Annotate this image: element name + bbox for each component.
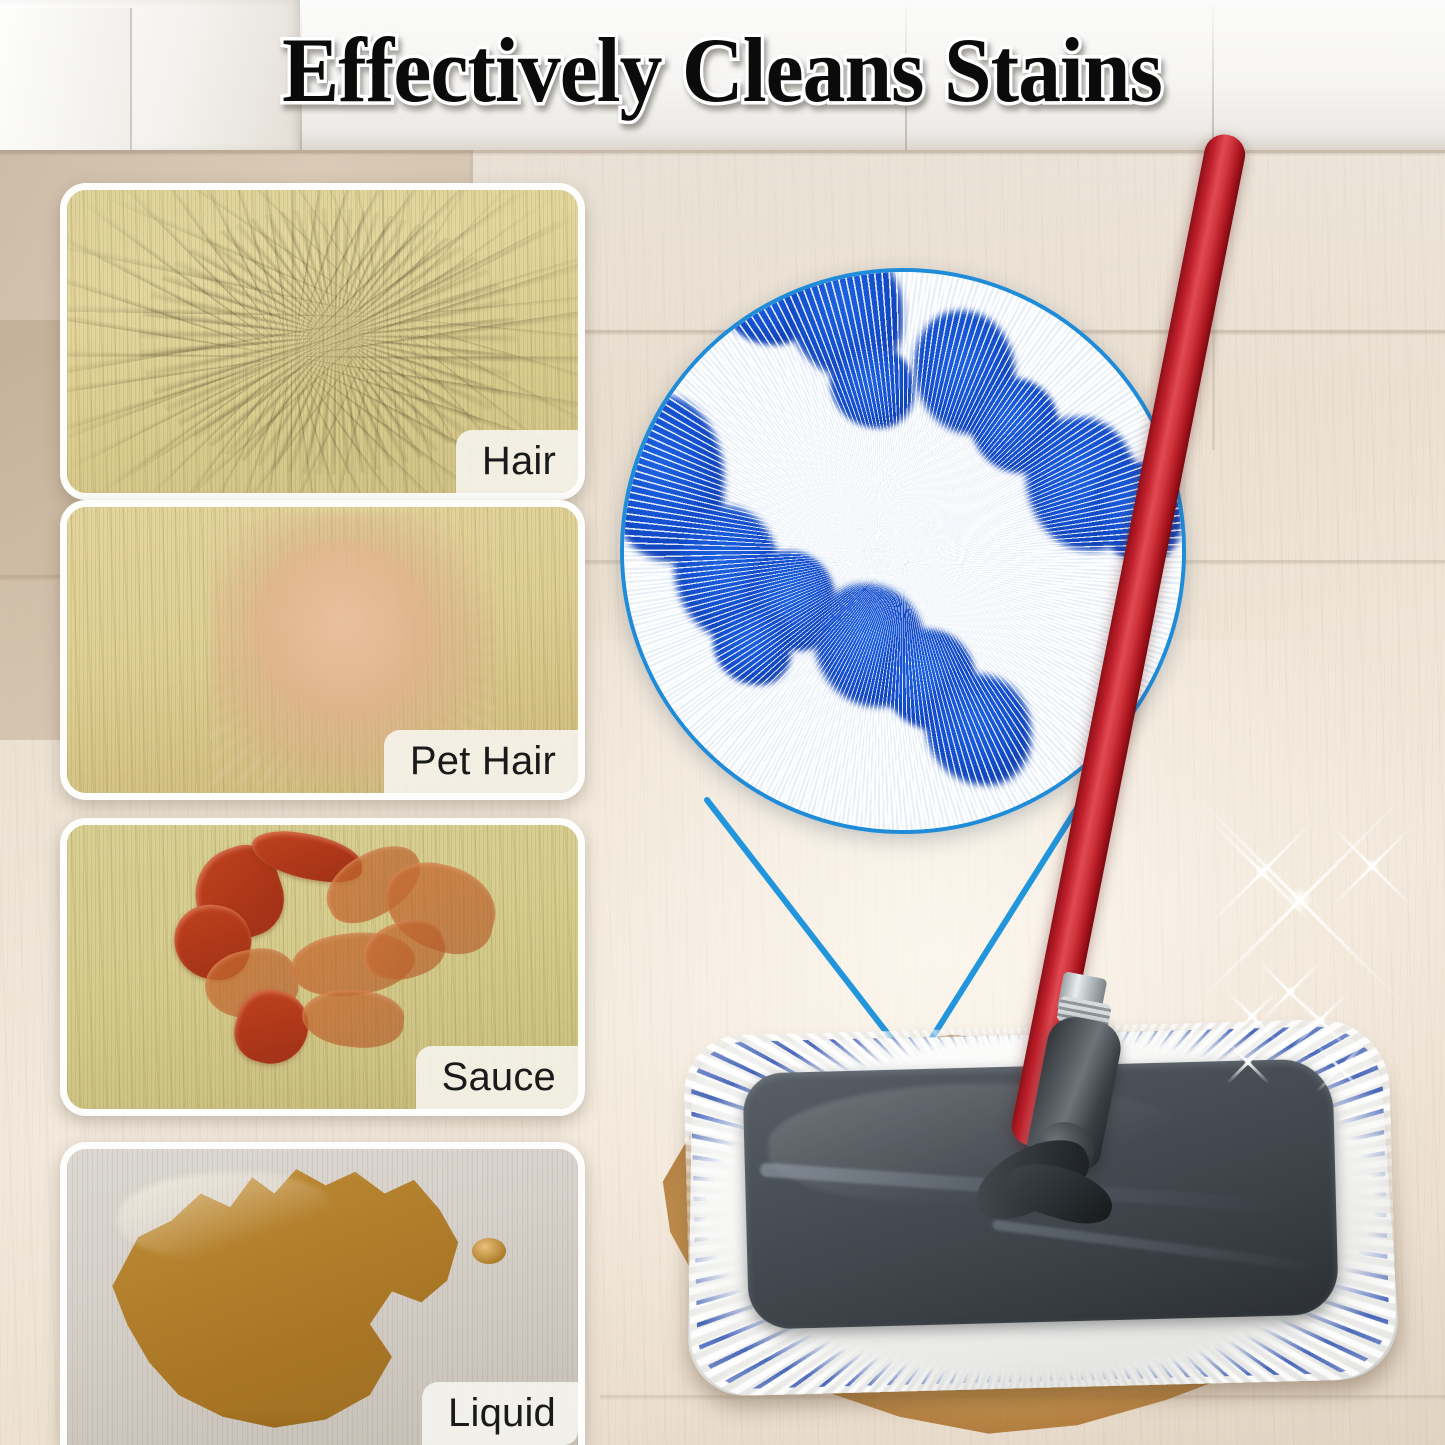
- page-title: Effectively Cleans Stains: [283, 24, 1163, 118]
- card-label-pet-hair: Pet Hair: [384, 730, 578, 793]
- card-label-sauce: Sauce: [416, 1046, 578, 1109]
- headline-banner: Effectively Cleans Stains: [0, 24, 1445, 118]
- stain-card-liquid[interactable]: Liquid: [60, 1142, 585, 1445]
- card-label-liquid: Liquid: [422, 1382, 578, 1445]
- liquid-droplet: [472, 1238, 506, 1264]
- stain-card-pet-hair[interactable]: Pet Hair: [60, 500, 585, 800]
- stain-card-sauce[interactable]: Sauce: [60, 818, 585, 1116]
- stain-card-hair[interactable]: Hair: [60, 183, 585, 500]
- card-label-hair: Hair: [456, 430, 578, 493]
- product-feature-image: Effectively Cleans Stains: [0, 0, 1445, 1445]
